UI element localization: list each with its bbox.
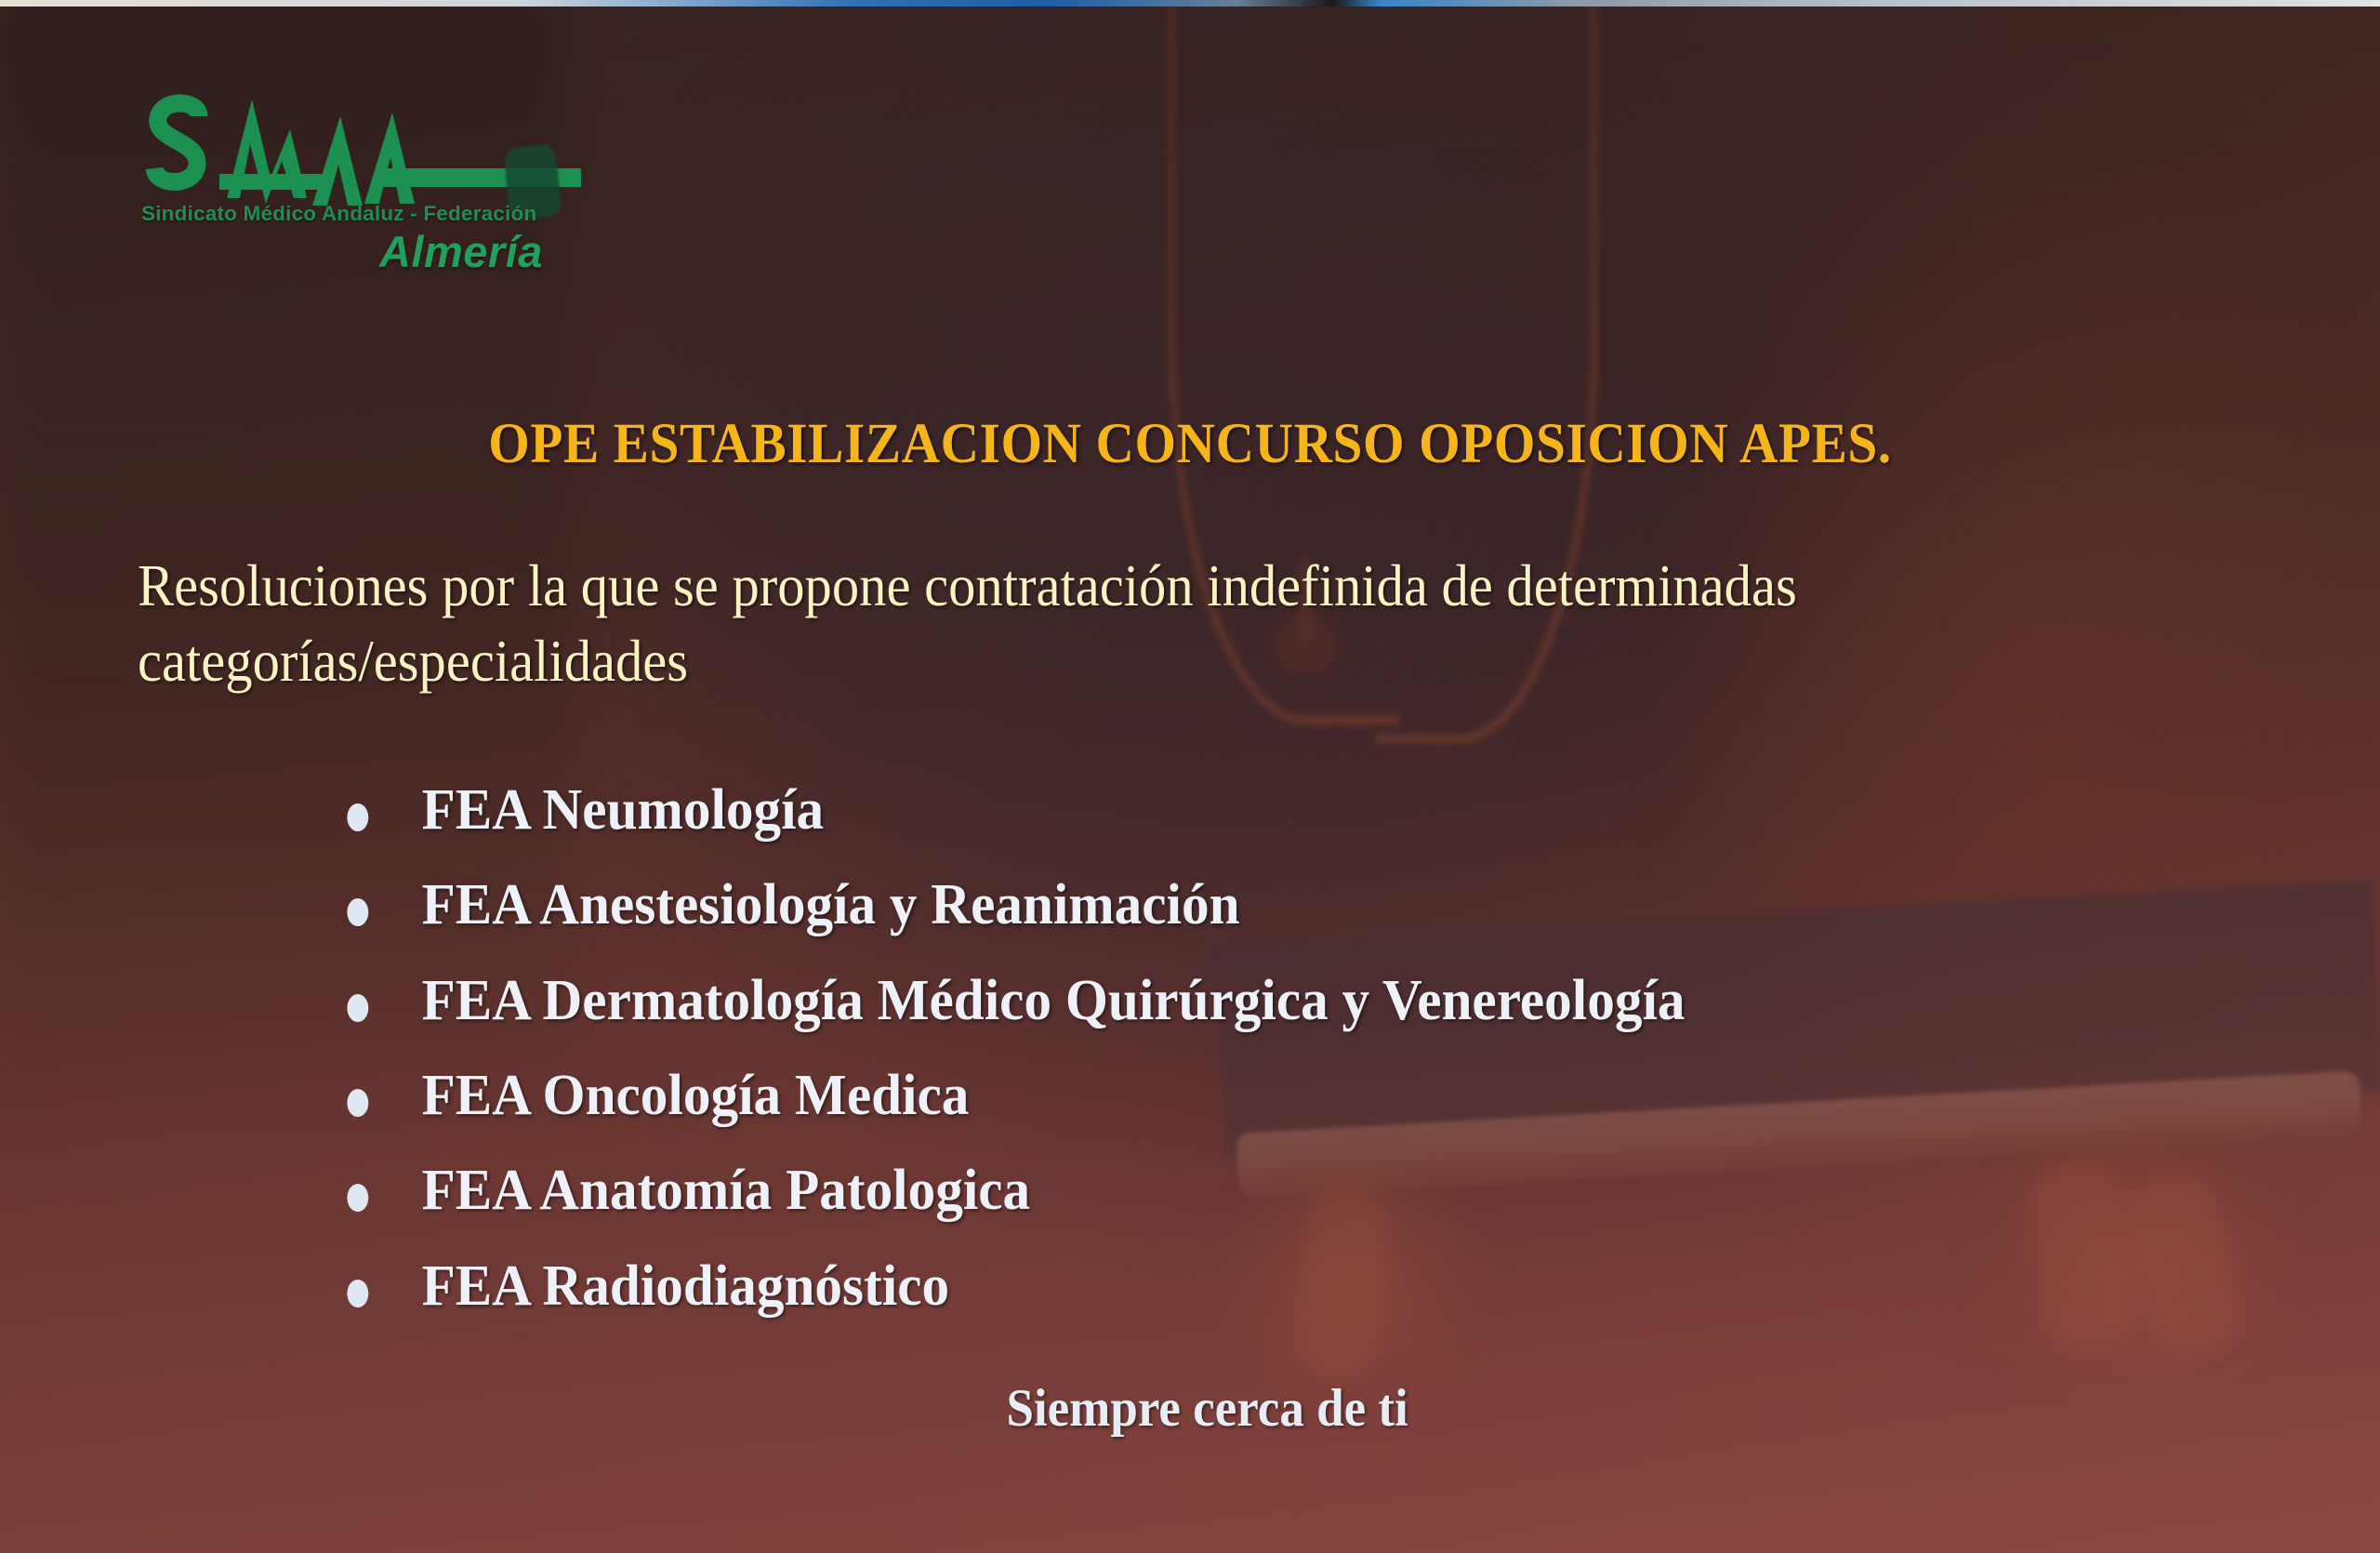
list-item: FEA Dermatología Médico Quirúrgica y Ven…	[335, 970, 2243, 1031]
tagline-text: Siempre cerca de ti	[100, 1378, 2314, 1439]
subtitle-text: Resoluciones por la que se propone contr…	[138, 549, 1997, 698]
bullet-icon	[347, 994, 368, 1022]
bullet-icon	[347, 1089, 368, 1117]
top-edge-strip	[0, 0, 2380, 7]
bullet-icon	[347, 1280, 368, 1307]
list-item: FEA Anatomía Patologica	[335, 1160, 2243, 1221]
list-item-label: FEA Anestesiología y Reanimación	[422, 873, 1240, 936]
page-title: OPE ESTABILIZACION CONCURSO OPOSICION AP…	[72, 412, 2308, 477]
bullet-icon	[347, 1184, 368, 1212]
list-item: FEA Radiodiagnóstico	[335, 1255, 2243, 1317]
list-item: FEA Anestesiología y Reanimación	[335, 874, 2243, 936]
bullet-icon	[347, 898, 368, 926]
list-item-label: FEA Oncología Medica	[422, 1064, 970, 1127]
list-item-label: FEA Dermatología Médico Quirúrgica y Ven…	[422, 969, 1686, 1032]
poster-slide: Sindicato Médico Andaluz - Federación Al…	[0, 0, 2380, 1553]
specialties-list: FEA Neumología FEA Anestesiología y Rean…	[335, 779, 2334, 1350]
list-item-label: FEA Radiodiagnóstico	[422, 1254, 950, 1318]
slide-content: OPE ESTABILIZACION CONCURSO OPOSICION AP…	[0, 0, 2380, 1553]
bullet-icon	[347, 803, 368, 831]
list-item: FEA Neumología	[335, 779, 2243, 841]
list-item-label: FEA Anatomía Patologica	[422, 1159, 1031, 1222]
list-item-label: FEA Neumología	[422, 778, 825, 842]
list-item: FEA Oncología Medica	[335, 1065, 2243, 1126]
